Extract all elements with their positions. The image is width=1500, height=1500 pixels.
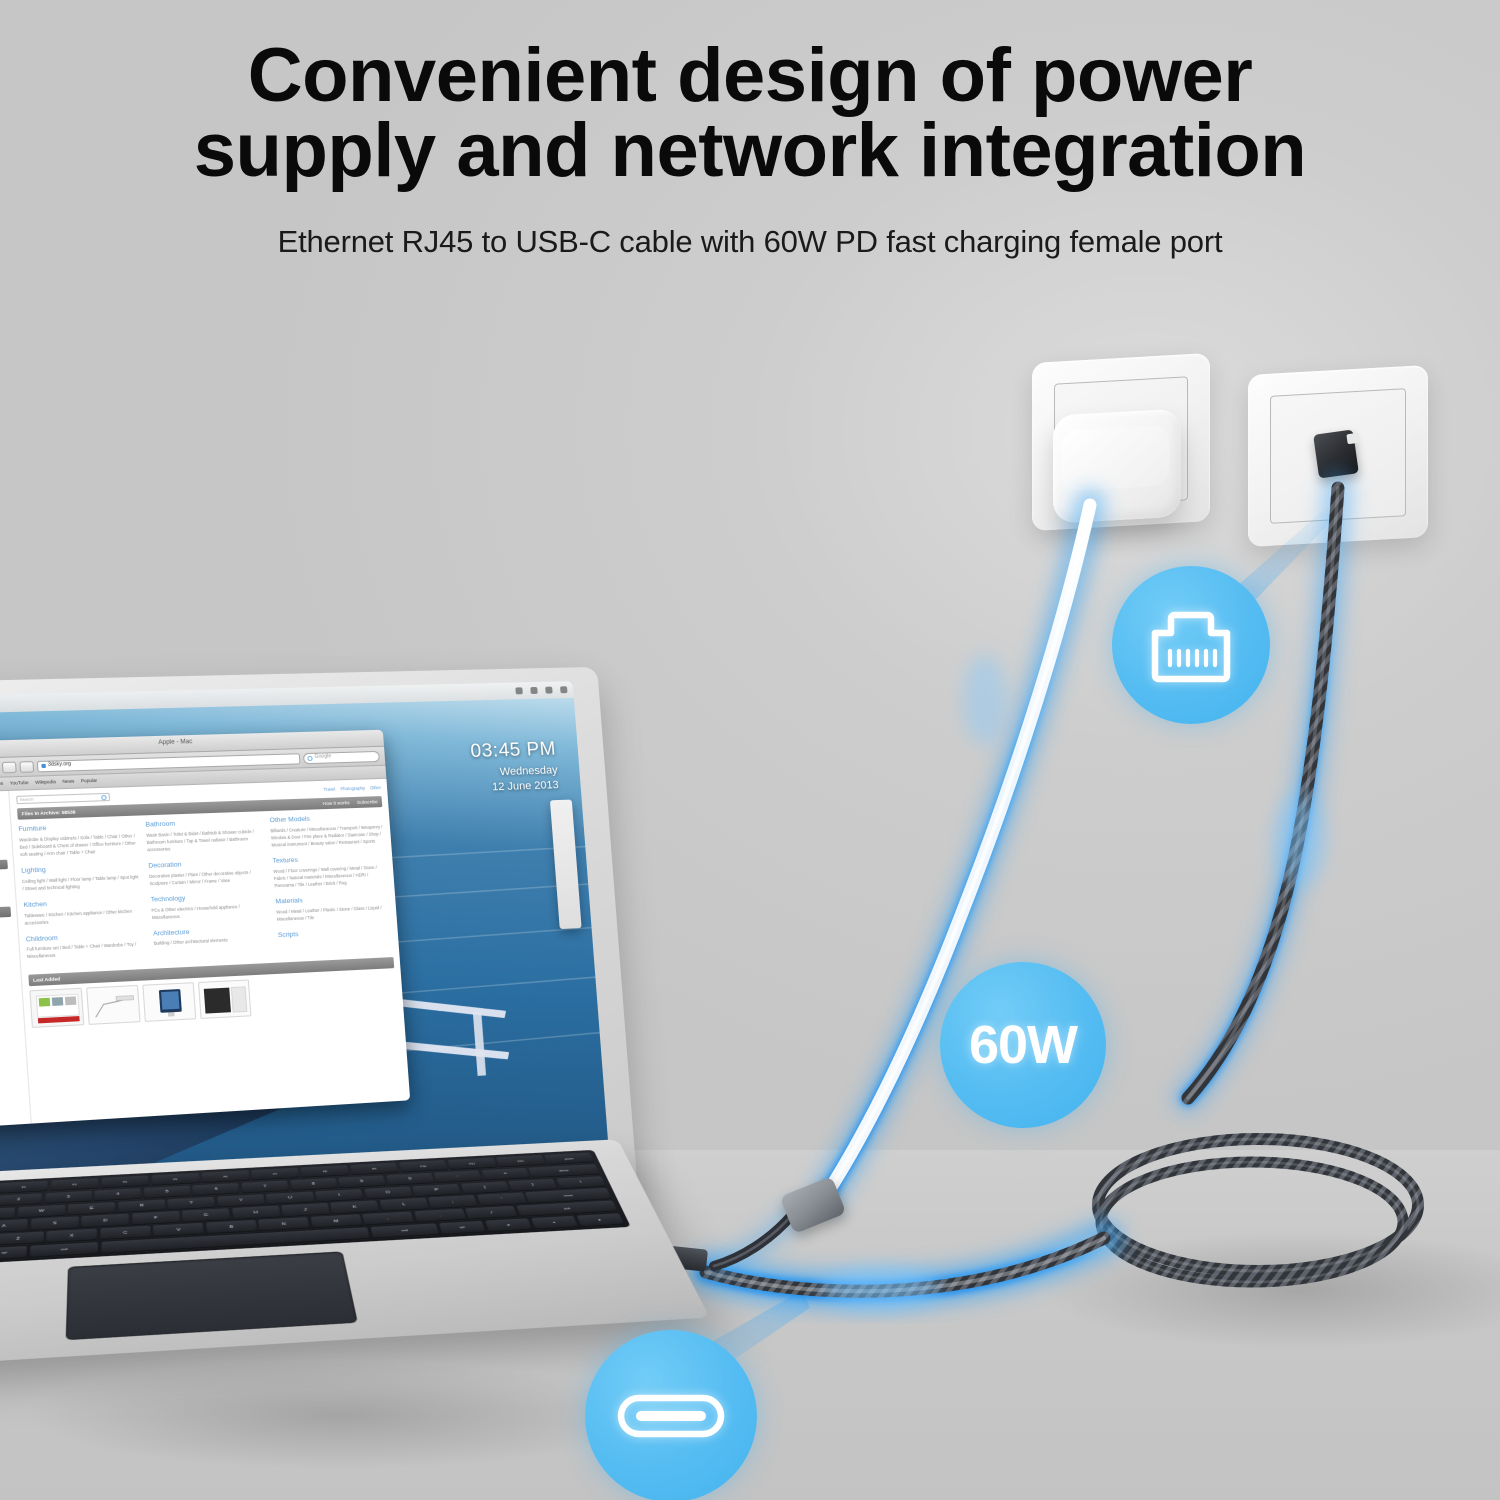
usbc-feature-badge bbox=[585, 1330, 757, 1500]
category-items[interactable]: Tableware / Kitchen / Kitchen appliance … bbox=[24, 908, 144, 928]
thumbnail-image bbox=[31, 989, 85, 1028]
site-nav[interactable]: Travel Photography Other bbox=[323, 785, 381, 793]
category-items[interactable]: Wash Basin / Toilet & Bidet / Bathtub & … bbox=[146, 829, 263, 855]
clock-time: 03:45 PM bbox=[470, 739, 557, 763]
key[interactable]: = bbox=[481, 1168, 530, 1181]
key[interactable]: 7 bbox=[241, 1180, 289, 1193]
key[interactable]: Y bbox=[217, 1194, 265, 1207]
subscribe-link[interactable]: Subscribe bbox=[357, 798, 379, 806]
page-content: 3dsky 3ddd to 3dsky Account Inbox 0 Prof… bbox=[0, 779, 410, 1129]
key[interactable]: M bbox=[310, 1214, 362, 1228]
key[interactable]: F6 bbox=[201, 1170, 250, 1183]
rj45-ethernet-port-icon bbox=[1145, 605, 1237, 685]
key[interactable]: R bbox=[118, 1199, 166, 1213]
site-logo-subtitle: 3ddd to 3dsky bbox=[0, 823, 5, 831]
site-search-input[interactable]: Search bbox=[16, 793, 110, 804]
bookmark-item[interactable]: Google Maps bbox=[0, 780, 3, 788]
category-items[interactable]: Ceiling light / Wall light / Floor lamp … bbox=[22, 874, 142, 893]
key-arrow-right[interactable]: ▶ bbox=[576, 1213, 624, 1227]
power-wattage-badge: 60W bbox=[940, 962, 1106, 1128]
key[interactable]: Q bbox=[0, 1207, 15, 1221]
bookmark-item[interactable]: News bbox=[62, 778, 74, 785]
thumbnail-image bbox=[143, 984, 196, 1023]
category-column: Other Models Billiards / Creature / Misc… bbox=[269, 812, 393, 957]
archive-count-label: Files In Archive: 58538 bbox=[22, 808, 76, 817]
laptop: 03:45 PM Wednesday 12 June 2013 bbox=[0, 660, 700, 1440]
key[interactable]: F7 bbox=[251, 1168, 300, 1181]
key-command-left[interactable]: cmd bbox=[30, 1242, 99, 1258]
category-column: Furniture Wardrobe & Display cabinets / … bbox=[18, 821, 146, 969]
key[interactable]: X bbox=[46, 1229, 97, 1243]
trackpad[interactable] bbox=[66, 1251, 358, 1340]
key[interactable]: F5 bbox=[151, 1173, 199, 1186]
battery-status-icon[interactable] bbox=[530, 687, 537, 694]
key[interactable]: 3 bbox=[44, 1191, 91, 1204]
key[interactable]: 6 bbox=[192, 1183, 240, 1196]
search-icon bbox=[101, 794, 107, 799]
browser-window[interactable]: Apple - Mac 3dsky.org Google bbox=[0, 730, 410, 1129]
sidebar-category[interactable]: Scripts bbox=[0, 1030, 19, 1044]
keyboard[interactable]: esc F1 F2 F3 F4 F5 F6 F7 F8 F9 F10 F11 F… bbox=[0, 1150, 631, 1269]
bookmark-item[interactable]: YouTube bbox=[10, 779, 29, 787]
sidebar-item-inbox[interactable]: Inbox 0 bbox=[0, 845, 7, 858]
key[interactable]: \ bbox=[556, 1176, 606, 1189]
key-option-left[interactable]: opt bbox=[0, 1246, 28, 1261]
url-text: 3dsky.org bbox=[48, 761, 72, 770]
key[interactable]: K bbox=[330, 1200, 379, 1214]
thumbnail-item[interactable] bbox=[86, 985, 140, 1025]
thumbnail-item[interactable] bbox=[142, 983, 196, 1023]
key[interactable]: F11 bbox=[447, 1157, 497, 1170]
key[interactable]: G bbox=[182, 1208, 230, 1222]
key[interactable]: B bbox=[206, 1220, 257, 1234]
category-columns: Furniture Wardrobe & Display cabinets / … bbox=[18, 812, 393, 969]
key[interactable]: , bbox=[362, 1211, 414, 1225]
key-arrow-up[interactable]: ▲ bbox=[530, 1216, 578, 1230]
key[interactable]: power bbox=[544, 1152, 594, 1165]
key[interactable]: . bbox=[414, 1209, 467, 1223]
category-items[interactable]: Wardrobe & Display cabinets / Sofa / Tab… bbox=[19, 833, 139, 859]
key[interactable]: ' bbox=[477, 1193, 527, 1206]
key[interactable]: W bbox=[17, 1204, 65, 1218]
thumbnail-item[interactable] bbox=[29, 988, 84, 1028]
notification-center-icon[interactable] bbox=[560, 686, 567, 693]
archive-links[interactable]: How it works Subscribe bbox=[322, 798, 378, 807]
key[interactable]: I bbox=[315, 1189, 364, 1202]
categories-header: Categories bbox=[0, 907, 11, 920]
key[interactable]: H bbox=[232, 1206, 281, 1220]
nav-item[interactable]: Travel bbox=[323, 786, 335, 793]
usb-c-port-icon bbox=[616, 1391, 726, 1441]
key[interactable]: F12 bbox=[496, 1155, 546, 1168]
key[interactable]: O bbox=[364, 1186, 413, 1199]
rj45-feature-badge bbox=[1112, 566, 1270, 724]
bookmark-item[interactable]: Wikipedia bbox=[35, 779, 56, 787]
key[interactable]: A bbox=[0, 1219, 28, 1233]
site-search-placeholder: Search bbox=[19, 796, 33, 803]
key[interactable]: T bbox=[168, 1196, 216, 1210]
key[interactable]: S bbox=[30, 1216, 79, 1230]
nav-item[interactable]: Other bbox=[370, 785, 381, 792]
category-items[interactable]: Full furniture set / Bed / Table + Chair… bbox=[26, 942, 146, 962]
menubar-status-items[interactable] bbox=[515, 686, 567, 694]
key[interactable]: Z bbox=[0, 1231, 44, 1246]
how-it-works-link[interactable]: How it works bbox=[322, 799, 349, 807]
key[interactable]: E bbox=[68, 1202, 116, 1216]
key[interactable]: V bbox=[153, 1223, 204, 1237]
key[interactable]: / bbox=[465, 1206, 518, 1220]
headline-line-1: Convenient design of power bbox=[248, 33, 1253, 118]
site-logo[interactable]: 3dsky bbox=[0, 796, 5, 824]
sidebar-item-upload[interactable]: Upload 3d models bbox=[0, 892, 10, 905]
power-badge-label: 60W bbox=[969, 1014, 1077, 1076]
category-column: Bathroom Wash Basin / Toilet & Bidet / B… bbox=[145, 816, 271, 962]
key[interactable]: - bbox=[434, 1170, 483, 1183]
wifi-status-icon[interactable] bbox=[515, 687, 523, 694]
key[interactable]: [ bbox=[460, 1181, 510, 1194]
spotlight-search-icon[interactable] bbox=[545, 687, 552, 694]
tabs-icon[interactable] bbox=[19, 761, 34, 773]
key[interactable]: F bbox=[132, 1211, 180, 1225]
key[interactable]: 8 bbox=[290, 1178, 338, 1191]
search-icon bbox=[307, 755, 313, 760]
laptop-base: esc F1 F2 F3 F4 F5 F6 F7 F8 F9 F10 F11 F… bbox=[0, 1139, 710, 1371]
key[interactable]: L bbox=[379, 1198, 429, 1212]
category-items[interactable]: Wood / Metal / Leather / Plastic / Stone… bbox=[276, 904, 390, 923]
key[interactable]: 0 bbox=[386, 1173, 435, 1186]
bookmark-item[interactable]: Popular bbox=[81, 777, 98, 785]
key[interactable]: P bbox=[412, 1184, 461, 1197]
profi-status-header: Profi Status bbox=[0, 860, 8, 872]
clock-day: Wednesday bbox=[472, 764, 558, 779]
share-icon[interactable] bbox=[2, 761, 17, 773]
category-items[interactable]: Wood / Floor coverings / Wall covering /… bbox=[273, 864, 388, 890]
category-items[interactable]: Decorative plaster / Plant / Other decor… bbox=[149, 869, 266, 888]
key[interactable]: 2 bbox=[0, 1193, 42, 1206]
desktop-clock-widget: 03:45 PM Wednesday 12 June 2013 bbox=[470, 739, 559, 794]
key[interactable]: ] bbox=[508, 1178, 558, 1191]
key[interactable]: F2 bbox=[0, 1181, 48, 1194]
category-items[interactable]: Billiards / Creature / Miscellaneous / T… bbox=[270, 824, 385, 849]
site-favicon-icon bbox=[41, 764, 46, 768]
header: Convenient design of power supply and ne… bbox=[0, 0, 1500, 260]
browser-search-field[interactable]: Google bbox=[303, 750, 380, 763]
page-title: Convenient design of power supply and ne… bbox=[0, 0, 1500, 188]
page-subtitle: Ethernet RJ45 to USB-C cable with 60W PD… bbox=[0, 224, 1500, 260]
category-items[interactable]: PCs & Other electrics / Household applia… bbox=[151, 902, 268, 921]
key[interactable]: F10 bbox=[399, 1160, 449, 1173]
key[interactable]: ; bbox=[428, 1195, 478, 1208]
key[interactable]: J bbox=[281, 1203, 330, 1217]
thumbnail-item[interactable] bbox=[198, 980, 252, 1020]
key[interactable]: 4 bbox=[94, 1188, 141, 1201]
thumbnail-image bbox=[87, 986, 140, 1025]
key[interactable]: F9 bbox=[350, 1163, 399, 1176]
search-placeholder: Google bbox=[314, 753, 331, 761]
key-arrow-left[interactable]: ◀ bbox=[485, 1218, 533, 1232]
key[interactable]: F4 bbox=[101, 1175, 149, 1188]
nav-item[interactable]: Photography bbox=[340, 785, 365, 792]
thumbnail-image bbox=[199, 981, 251, 1020]
category-title[interactable]: Scripts bbox=[278, 925, 392, 940]
key[interactable]: N bbox=[258, 1217, 310, 1231]
key[interactable]: C bbox=[100, 1226, 151, 1240]
key[interactable]: F3 bbox=[50, 1178, 98, 1191]
headline-line-2: supply and network integration bbox=[0, 113, 1500, 188]
key-option-right[interactable]: opt bbox=[438, 1221, 485, 1235]
key-command-right[interactable]: cmd bbox=[370, 1223, 439, 1238]
site-main-content: Search Travel Photography Other Files In… bbox=[9, 779, 410, 1124]
key[interactable]: F8 bbox=[300, 1165, 349, 1178]
key[interactable]: D bbox=[81, 1214, 129, 1228]
key[interactable]: U bbox=[266, 1191, 315, 1204]
key[interactable]: 9 bbox=[338, 1175, 386, 1188]
key[interactable]: 5 bbox=[144, 1185, 191, 1198]
